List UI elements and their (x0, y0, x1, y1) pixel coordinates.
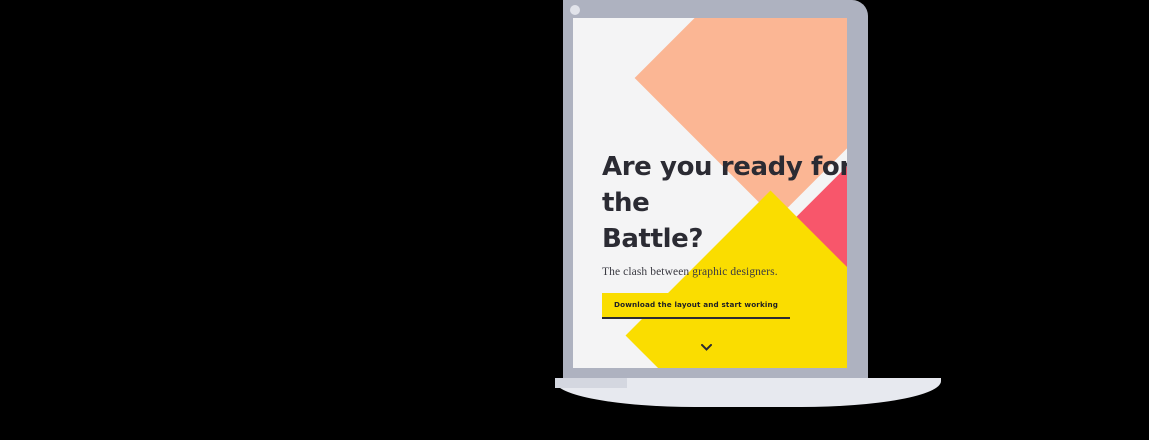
laptop-base-notch (555, 378, 627, 388)
canvas: Are you ready for the Battle? The clash … (0, 0, 1149, 440)
page-title: Are you ready for the Battle? (602, 150, 847, 258)
website-page: Are you ready for the Battle? The clash … (573, 18, 847, 368)
scroll-down-button[interactable] (699, 340, 713, 354)
webcam-icon (570, 5, 580, 15)
hero-section: Are you ready for the Battle? The clash … (602, 150, 847, 319)
download-layout-button[interactable]: Download the layout and start working (602, 293, 790, 319)
laptop-mockup: Are you ready for the Battle? The clash … (0, 0, 1149, 440)
page-subtitle: The clash between graphic designers. (602, 266, 847, 278)
laptop-screen: Are you ready for the Battle? The clash … (573, 18, 847, 368)
chevron-down-icon (701, 344, 712, 351)
